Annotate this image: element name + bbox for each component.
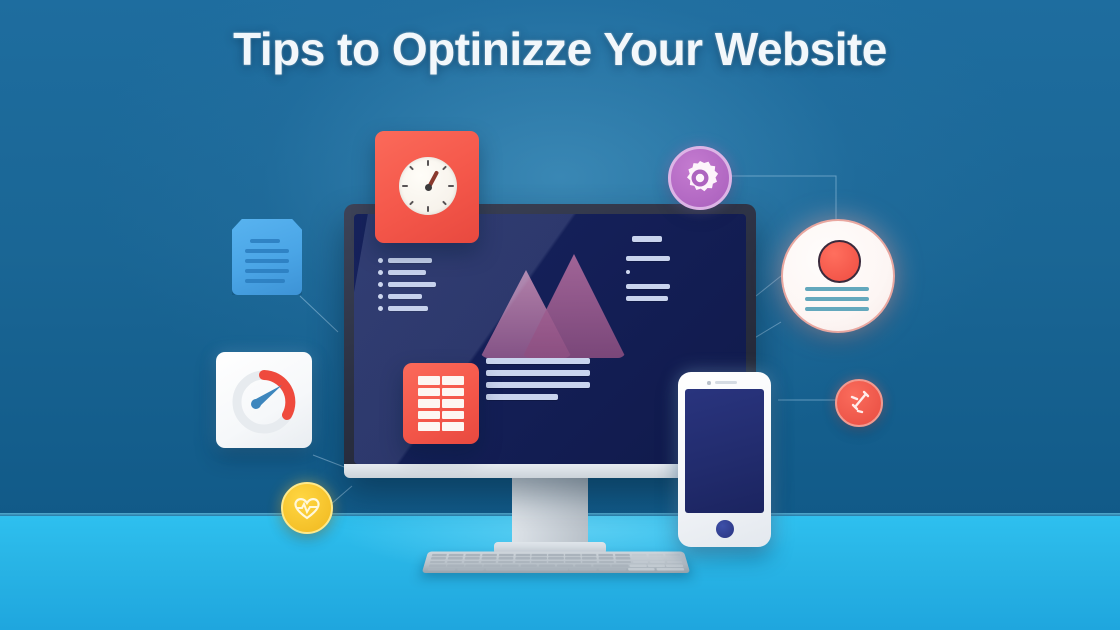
key	[431, 557, 447, 559]
key	[631, 554, 646, 556]
badge-line	[805, 287, 869, 291]
monitor-stand-neck	[512, 472, 588, 550]
key	[428, 568, 456, 570]
key	[481, 557, 497, 559]
key	[538, 564, 555, 566]
spacebar	[486, 568, 568, 570]
clock-tick	[427, 160, 429, 166]
gear-icon	[671, 149, 729, 207]
right-bar	[626, 296, 668, 301]
key	[515, 554, 530, 556]
key	[599, 561, 615, 563]
key	[457, 568, 485, 570]
key	[599, 568, 627, 570]
screen-glare	[354, 214, 620, 464]
right-bar	[626, 256, 670, 261]
key	[447, 564, 464, 566]
key	[498, 554, 513, 556]
doc-line	[245, 269, 289, 273]
key	[666, 564, 683, 566]
key	[565, 561, 580, 563]
key	[666, 561, 682, 563]
phone-home-button[interactable]	[716, 520, 734, 538]
clock-tick	[442, 201, 447, 206]
key	[616, 561, 632, 563]
grid-cell	[418, 422, 440, 431]
key	[598, 554, 613, 556]
right-bar	[626, 284, 670, 289]
key	[630, 564, 647, 566]
keyboard-row	[430, 561, 683, 563]
heart-pulse-badge[interactable]	[281, 482, 333, 534]
grid-cell	[418, 376, 440, 385]
key	[464, 561, 480, 563]
key	[497, 561, 513, 563]
rocket-icon	[837, 381, 881, 425]
keyboard	[422, 551, 691, 573]
doc-line	[245, 279, 285, 283]
key	[464, 557, 480, 559]
key	[484, 564, 501, 566]
keyboard-row	[431, 557, 682, 559]
key	[481, 561, 497, 563]
clock-tick	[409, 166, 414, 171]
key	[498, 557, 513, 559]
clock-tick	[442, 166, 447, 171]
grid-cell	[442, 399, 464, 408]
clock-tick	[409, 201, 414, 206]
clock-tick	[427, 206, 429, 212]
key	[599, 557, 614, 559]
key	[482, 554, 497, 556]
clock-tick	[448, 185, 454, 187]
key	[531, 561, 546, 563]
key	[532, 554, 547, 556]
document-icon[interactable]	[232, 219, 302, 295]
grid-cell	[418, 399, 440, 408]
key	[430, 561, 446, 563]
clock-icon	[399, 157, 457, 215]
doc-line	[245, 259, 289, 263]
grid-cell	[442, 411, 464, 420]
poster-canvas: Tips to Optinizze Your Website	[0, 0, 1120, 630]
smartphone	[678, 372, 771, 547]
key	[582, 561, 597, 563]
key	[582, 554, 597, 556]
doc-line	[245, 249, 289, 253]
key	[648, 564, 665, 566]
gear-badge[interactable]	[668, 146, 732, 210]
key	[465, 564, 482, 566]
key	[447, 561, 463, 563]
key	[448, 557, 464, 559]
table-grid-card[interactable]	[403, 363, 479, 444]
key	[548, 561, 563, 563]
grid-cell	[442, 422, 464, 431]
clock-hub	[425, 184, 432, 191]
key	[649, 557, 665, 559]
speedometer-card[interactable]	[216, 352, 312, 448]
speedometer-icon	[216, 352, 312, 448]
clock-tick	[402, 185, 408, 187]
grid-cell	[442, 388, 464, 397]
badge-line	[805, 307, 869, 311]
key	[448, 554, 464, 556]
key	[432, 554, 448, 556]
key	[656, 568, 684, 570]
rocket-badge[interactable]	[835, 379, 883, 427]
doc-line	[250, 239, 280, 243]
key	[665, 554, 681, 556]
key	[666, 557, 682, 559]
target-lines-badge[interactable]	[781, 219, 895, 333]
clock-card[interactable]	[375, 131, 479, 243]
grid-cell	[418, 411, 440, 420]
phone-camera-icon	[707, 381, 711, 385]
key	[593, 564, 610, 566]
key	[633, 561, 649, 563]
phone-screen	[685, 389, 764, 513]
grid-cell	[418, 388, 440, 397]
key	[502, 564, 519, 566]
keyboard-row	[428, 568, 685, 570]
key	[627, 568, 655, 570]
key	[465, 554, 480, 556]
key	[548, 554, 563, 556]
key	[570, 568, 598, 570]
key	[515, 557, 530, 559]
key	[615, 557, 631, 559]
right-bar	[632, 236, 662, 242]
key	[557, 564, 574, 566]
key	[429, 564, 446, 566]
key	[632, 557, 648, 559]
key	[520, 564, 537, 566]
heart-pulse-icon	[283, 484, 331, 532]
keyboard-row	[429, 564, 684, 566]
keyboard-row	[432, 554, 681, 556]
keyboard-keys	[428, 554, 685, 571]
phone-speaker	[715, 381, 737, 384]
table-grid-icon	[418, 376, 464, 431]
key	[615, 554, 630, 556]
key	[648, 554, 664, 556]
key	[575, 564, 592, 566]
key	[611, 564, 628, 566]
key	[565, 557, 580, 559]
badge-line	[805, 297, 869, 301]
key	[548, 557, 563, 559]
key	[650, 561, 666, 563]
key	[565, 554, 580, 556]
right-bullet	[626, 270, 630, 274]
page-title: Tips to Optinizze Your Website	[0, 22, 1120, 76]
key	[582, 557, 597, 559]
key	[514, 561, 529, 563]
key	[532, 557, 547, 559]
red-circle-icon	[818, 240, 861, 283]
grid-cell	[442, 376, 464, 385]
